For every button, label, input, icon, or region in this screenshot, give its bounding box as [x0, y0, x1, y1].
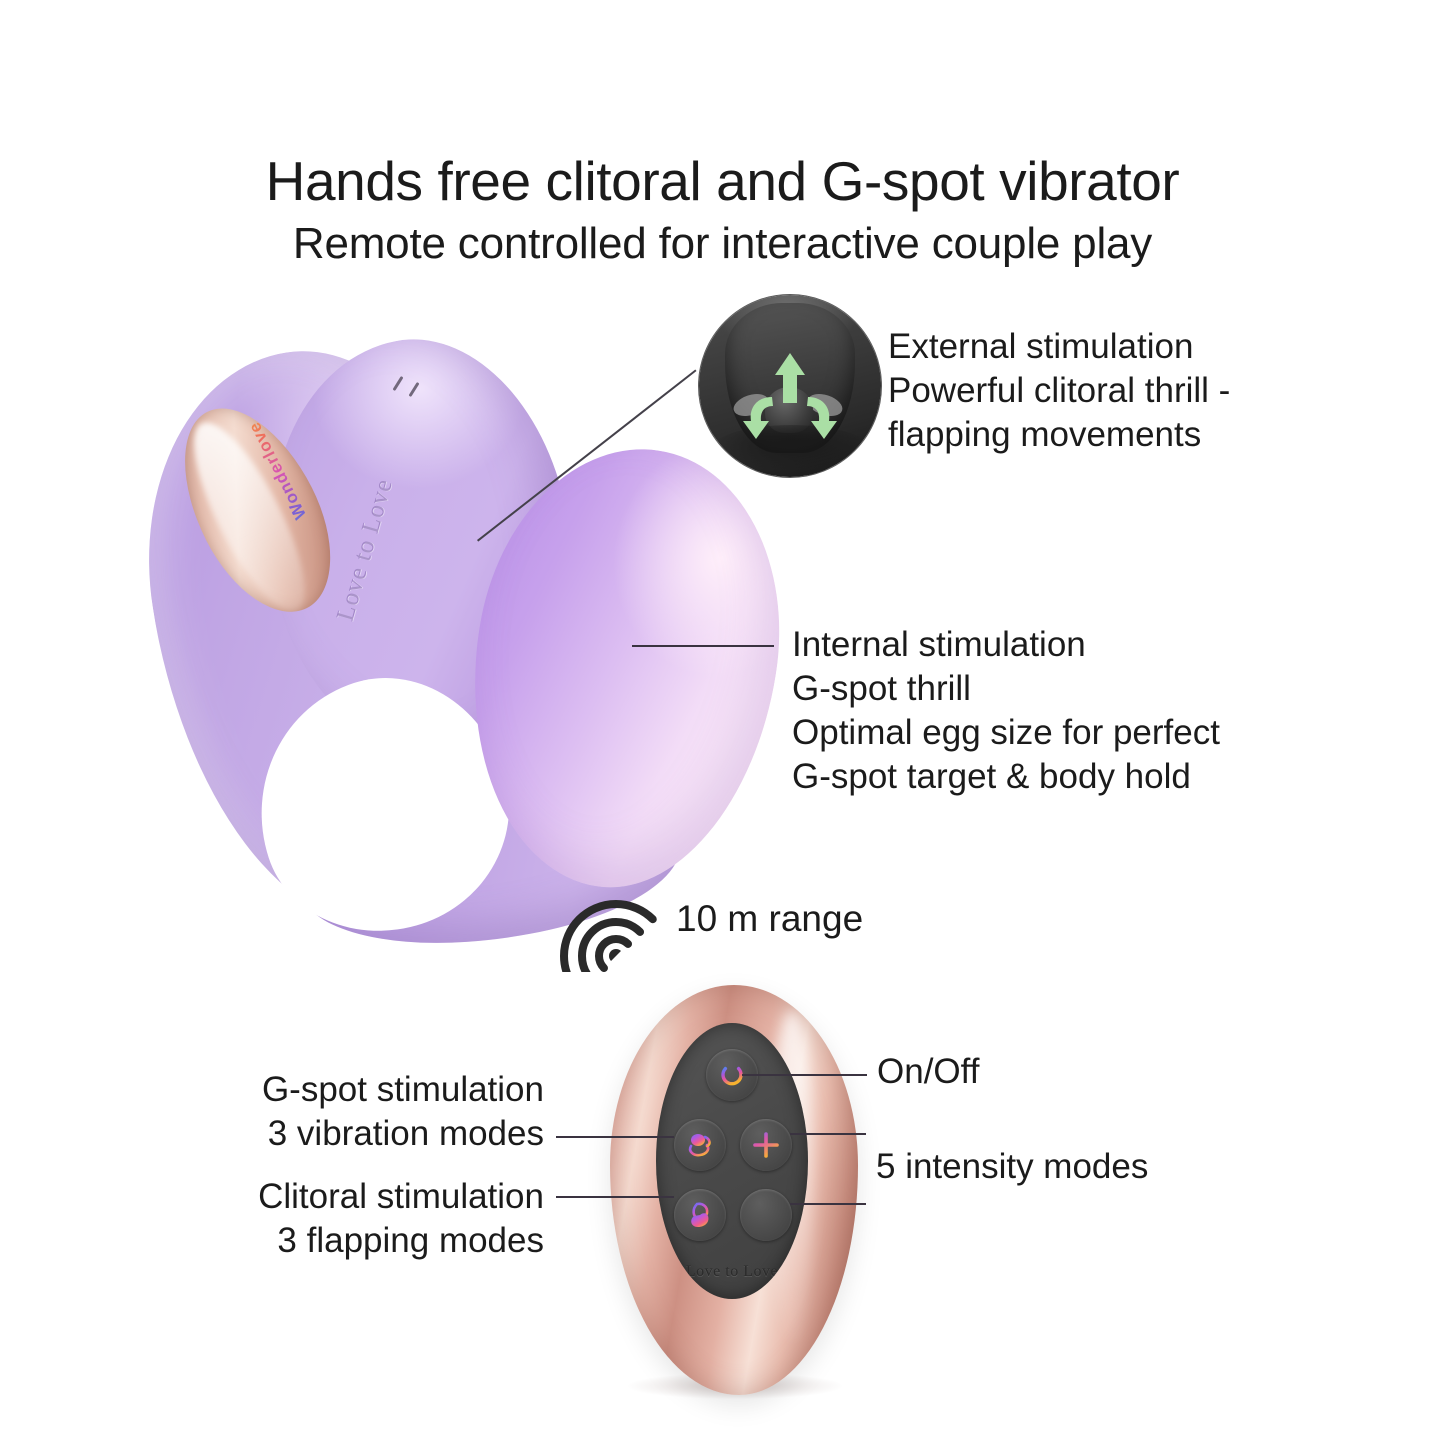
clitoral-mode-button[interactable]: [674, 1189, 726, 1241]
leader-line-intensity-down: [790, 1203, 866, 1205]
flapping-arrows-group: [699, 295, 881, 477]
gspot-label-line-1: G-spot stimulation: [124, 1068, 544, 1112]
on-off-label: On/Off: [877, 1050, 979, 1094]
intensity-up-button[interactable]: [740, 1119, 792, 1171]
clitoral-label-line-1: Clitoral stimulation: [124, 1175, 544, 1219]
clitoral-head-icon: [684, 1199, 716, 1231]
headline-block: Hands free clitoral and G-spot vibrator …: [0, 152, 1445, 269]
page-subtitle: Remote controlled for interactive couple…: [0, 220, 1445, 268]
gspot-stimulation-label: G-spot stimulation 3 vibration modes: [124, 1068, 544, 1156]
range-label: 10 m range: [676, 898, 863, 940]
internal-stimulation-callout: Internal stimulation G-spot thrill Optim…: [792, 623, 1220, 799]
plus-icon: [751, 1130, 781, 1160]
gspot-egg-icon: [684, 1129, 716, 1161]
leader-line-on-off: [742, 1074, 867, 1076]
leader-line-intensity-up: [790, 1133, 866, 1135]
minus-icon: [751, 1200, 781, 1230]
leader-line-internal: [632, 645, 774, 647]
external-line-2: Powerful clitoral thrill -: [888, 369, 1230, 413]
internal-line-2: G-spot thrill: [792, 667, 1220, 711]
clitoral-stimulation-label: Clitoral stimulation 3 flapping modes: [124, 1175, 544, 1263]
arrow-curve-right-icon: [807, 397, 837, 439]
page-title: Hands free clitoral and G-spot vibrator: [0, 152, 1445, 210]
infographic-page: Hands free clitoral and G-spot vibrator …: [0, 0, 1445, 1445]
remote-wordmark: Love to Love: [656, 1263, 808, 1281]
arrow-curve-left-icon: [743, 397, 773, 439]
clitoral-label-line-2: 3 flapping modes: [124, 1219, 544, 1263]
external-stimulation-callout: External stimulation Powerful clitoral t…: [888, 325, 1230, 457]
remote-button-panel: Love to Love: [656, 1023, 808, 1299]
external-line-3: flapping movements: [888, 413, 1230, 457]
intensity-down-button[interactable]: [740, 1189, 792, 1241]
remote-control: Love to Love: [610, 985, 880, 1405]
external-stimulation-magnifier: [698, 294, 882, 478]
internal-line-4: G-spot target & body hold: [792, 755, 1220, 799]
internal-line-1: Internal stimulation: [792, 623, 1220, 667]
gspot-mode-button[interactable]: [674, 1119, 726, 1171]
arrow-up-icon: [775, 353, 805, 403]
leader-line-clitoral: [556, 1196, 674, 1198]
gspot-label-line-2: 3 vibration modes: [124, 1112, 544, 1156]
wifi-signal-icon: [556, 872, 676, 972]
internal-line-3: Optimal egg size for perfect: [792, 711, 1220, 755]
intensity-modes-label: 5 intensity modes: [876, 1145, 1148, 1189]
leader-line-gspot: [556, 1136, 674, 1138]
external-line-1: External stimulation: [888, 325, 1230, 369]
